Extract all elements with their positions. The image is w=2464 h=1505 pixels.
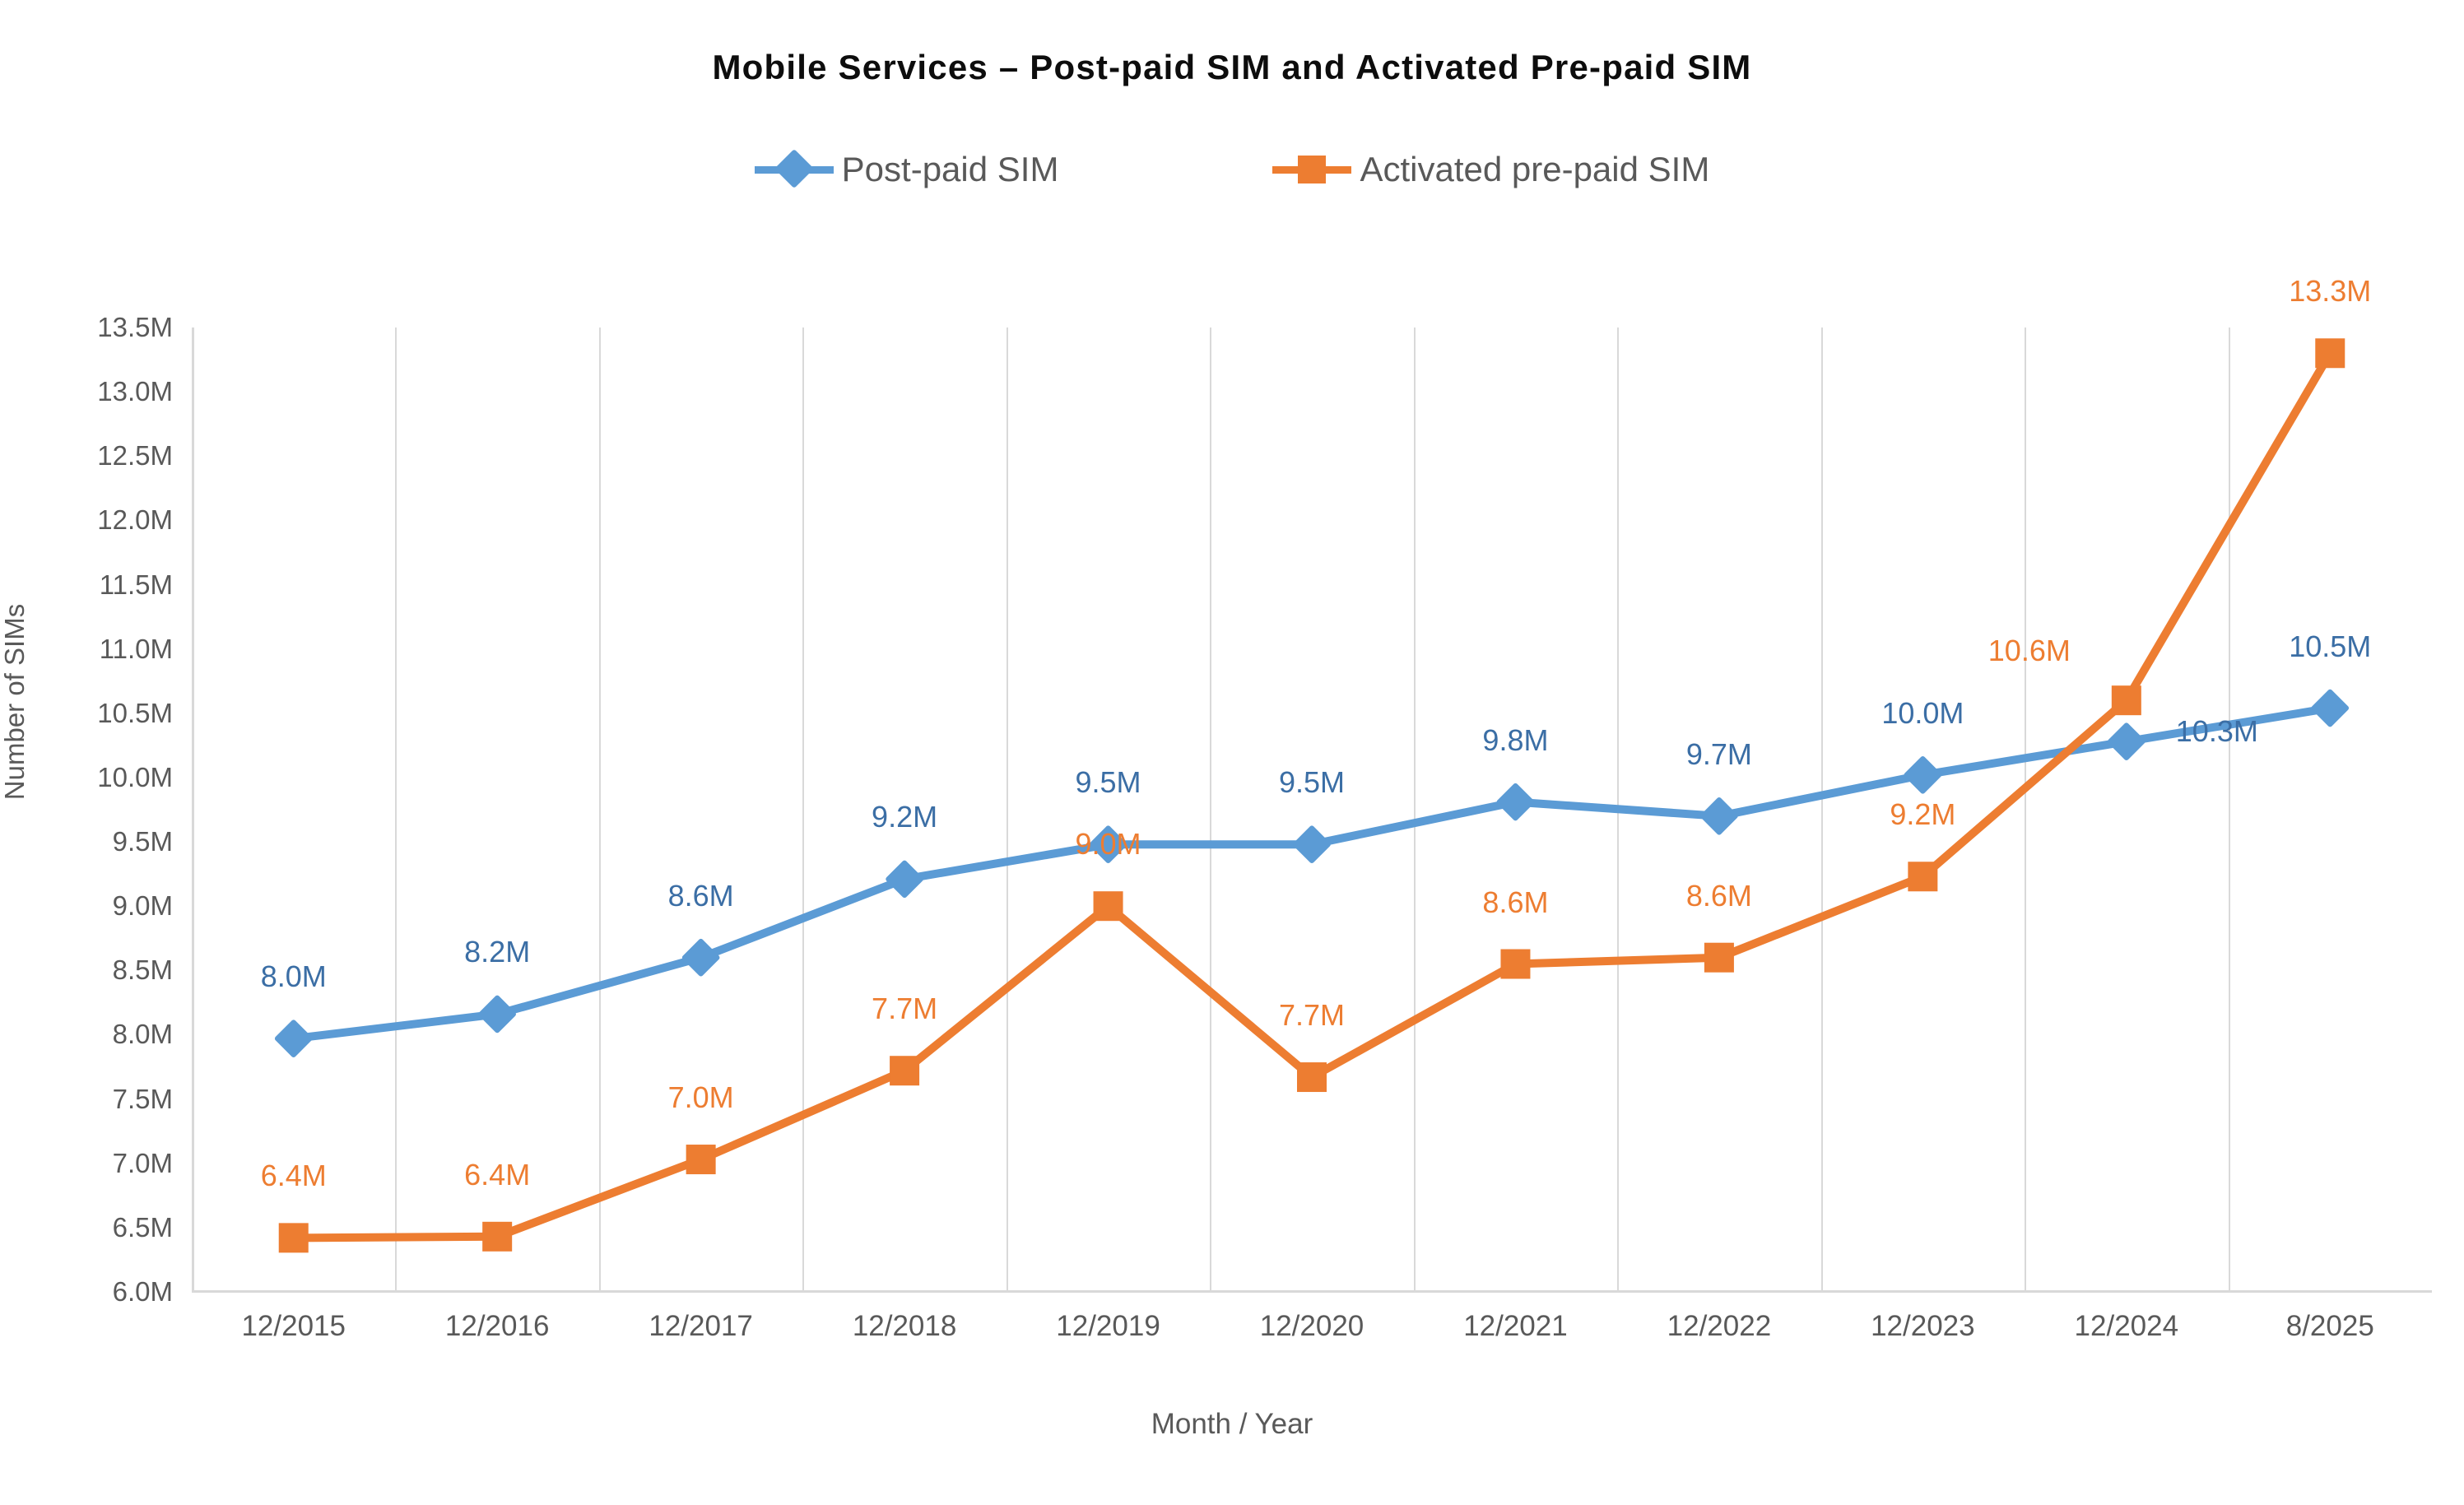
gridline-vertical bbox=[1007, 327, 1008, 1292]
data-point-label: 10.6M bbox=[1988, 634, 2071, 668]
data-point-label: 9.2M bbox=[872, 800, 937, 834]
data-point-marker[interactable] bbox=[279, 1223, 309, 1252]
gridline-vertical bbox=[1617, 327, 1619, 1292]
gridline-vertical bbox=[1210, 327, 1211, 1292]
y-axis-tick-label: 10.5M bbox=[37, 698, 173, 729]
data-point-label: 10.0M bbox=[1881, 696, 1964, 731]
data-point-label: 13.3M bbox=[2289, 274, 2371, 309]
x-axis-tick-label: 8/2025 bbox=[2286, 1310, 2374, 1343]
y-axis-tick-label: 10.0M bbox=[37, 762, 173, 793]
data-point-label: 6.4M bbox=[261, 1159, 327, 1193]
x-axis-tick-label: 12/2024 bbox=[2075, 1310, 2179, 1343]
y-axis-tick-label: 12.5M bbox=[37, 440, 173, 471]
y-axis-tick-label: 11.0M bbox=[37, 634, 173, 665]
y-axis-tick-label: 12.0M bbox=[37, 504, 173, 536]
legend-label-post-paid: Post-paid SIM bbox=[842, 150, 1059, 189]
gridline-vertical bbox=[599, 327, 601, 1292]
data-point-marker[interactable] bbox=[1297, 1062, 1327, 1092]
y-axis-tick-label: 13.0M bbox=[37, 376, 173, 407]
data-point-marker[interactable] bbox=[1094, 891, 1123, 921]
data-point-label: 7.0M bbox=[668, 1080, 734, 1115]
series-layer bbox=[0, 0, 2464, 1505]
data-point-label: 8.6M bbox=[1482, 885, 1548, 920]
data-point-label: 9.5M bbox=[1076, 765, 1141, 800]
data-point-marker[interactable] bbox=[2112, 685, 2141, 715]
gridline-vertical bbox=[395, 327, 397, 1292]
data-point-marker[interactable] bbox=[681, 938, 721, 978]
x-axis-tick-label: 12/2015 bbox=[241, 1310, 346, 1343]
data-point-label: 8.6M bbox=[668, 879, 734, 913]
chart-canvas: Mobile Services – Post-paid SIM and Acti… bbox=[0, 0, 2464, 1505]
data-point-marker[interactable] bbox=[1704, 943, 1734, 973]
data-point-marker[interactable] bbox=[1292, 824, 1332, 864]
legend-label-activated-pre-paid: Activated pre-paid SIM bbox=[1360, 150, 1709, 189]
data-point-marker[interactable] bbox=[274, 1019, 314, 1058]
data-point-marker[interactable] bbox=[686, 1145, 716, 1174]
gridline-vertical bbox=[802, 327, 804, 1292]
y-axis-tick-label: 8.0M bbox=[37, 1019, 173, 1050]
x-axis-line bbox=[192, 1290, 2432, 1293]
data-point-marker[interactable] bbox=[885, 859, 924, 899]
data-point-marker[interactable] bbox=[1699, 797, 1739, 836]
data-point-marker[interactable] bbox=[2107, 722, 2146, 761]
data-point-marker[interactable] bbox=[2315, 338, 2345, 368]
y-axis-tick-label: 8.5M bbox=[37, 955, 173, 986]
y-axis-tick-label: 9.5M bbox=[37, 826, 173, 857]
y-axis-tick-label: 6.5M bbox=[37, 1212, 173, 1243]
x-axis-tick-label: 12/2021 bbox=[1463, 1310, 1568, 1343]
y-axis-title: Number of SIMs bbox=[0, 537, 30, 866]
x-axis-tick-label: 12/2017 bbox=[649, 1310, 753, 1343]
gridline-vertical bbox=[2025, 327, 2026, 1292]
x-axis-tick-label: 12/2023 bbox=[1871, 1310, 1975, 1343]
data-point-label: 10.5M bbox=[2289, 629, 2371, 664]
data-point-label: 9.7M bbox=[1686, 737, 1752, 772]
data-point-marker[interactable] bbox=[890, 1056, 919, 1085]
data-point-marker[interactable] bbox=[482, 1222, 512, 1252]
data-point-label: 8.6M bbox=[1686, 879, 1752, 913]
data-point-label: 7.7M bbox=[872, 992, 937, 1026]
data-point-label: 8.0M bbox=[261, 959, 327, 994]
x-axis-tick-label: 12/2019 bbox=[1056, 1310, 1160, 1343]
x-axis-tick-label: 12/2018 bbox=[853, 1310, 957, 1343]
x-axis-tick-label: 12/2022 bbox=[1667, 1310, 1772, 1343]
y-axis-tick-label: 9.0M bbox=[37, 890, 173, 922]
chart-legend: Post-paid SIM Activated pre-paid SIM bbox=[0, 150, 2464, 189]
y-axis-line bbox=[192, 327, 194, 1292]
chart-title: Mobile Services – Post-paid SIM and Acti… bbox=[0, 48, 2464, 87]
x-axis-tick-label: 12/2016 bbox=[445, 1310, 550, 1343]
data-point-label: 9.5M bbox=[1279, 765, 1345, 800]
data-point-marker[interactable] bbox=[1500, 950, 1530, 979]
data-point-label: 9.0M bbox=[1076, 827, 1141, 862]
gridline-vertical bbox=[1821, 327, 1823, 1292]
legend-item-activated-pre-paid[interactable]: Activated pre-paid SIM bbox=[1272, 150, 1709, 189]
data-point-label: 9.8M bbox=[1482, 723, 1548, 758]
gridline-vertical bbox=[2229, 327, 2230, 1292]
legend-item-post-paid[interactable]: Post-paid SIM bbox=[755, 150, 1059, 189]
data-point-marker[interactable] bbox=[1908, 862, 1937, 891]
square-marker-icon bbox=[1272, 153, 1351, 186]
data-point-marker[interactable] bbox=[477, 994, 517, 1034]
data-point-label: 6.4M bbox=[464, 1158, 530, 1192]
data-point-label: 9.2M bbox=[1890, 797, 1955, 832]
y-axis-tick-label: 6.0M bbox=[37, 1276, 173, 1308]
data-point-marker[interactable] bbox=[1495, 783, 1535, 822]
data-point-label: 8.2M bbox=[464, 935, 530, 969]
y-axis-tick-label: 11.5M bbox=[37, 569, 173, 601]
data-point-marker[interactable] bbox=[2310, 689, 2350, 728]
x-axis-tick-label: 12/2020 bbox=[1260, 1310, 1364, 1343]
y-axis-tick-label: 7.5M bbox=[37, 1084, 173, 1115]
x-axis-title: Month / Year bbox=[0, 1408, 2464, 1441]
data-point-marker[interactable] bbox=[1903, 755, 1942, 795]
y-axis-tick-label: 13.5M bbox=[37, 312, 173, 343]
gridline-vertical bbox=[1414, 327, 1416, 1292]
diamond-marker-icon bbox=[755, 153, 834, 186]
data-point-label: 10.3M bbox=[2176, 714, 2258, 749]
y-axis-tick-label: 7.0M bbox=[37, 1148, 173, 1179]
data-point-label: 7.7M bbox=[1279, 998, 1345, 1033]
